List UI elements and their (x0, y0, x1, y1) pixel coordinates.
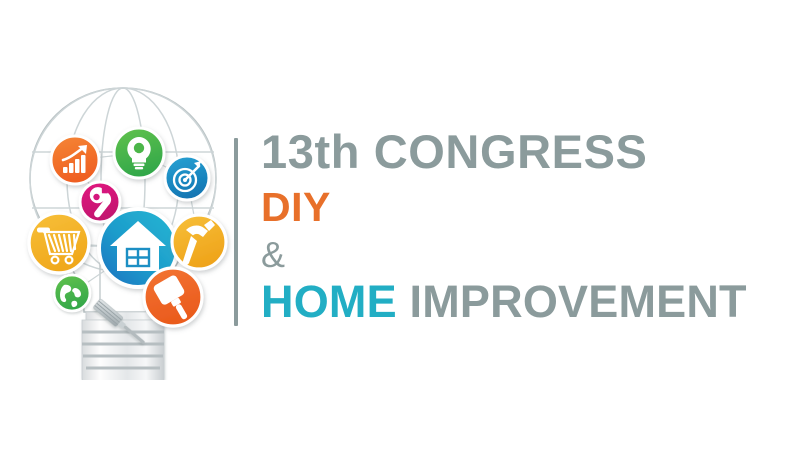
lightbulb-icon-cluster-logo (8, 50, 238, 380)
title-block: 13th CONGRESS DIY & HOME IMPROVEMENT (261, 128, 796, 324)
title-word-improvement: IMPROVEMENT (397, 276, 747, 327)
title-word-home: HOME (261, 276, 397, 327)
paint-brush-icon (144, 268, 202, 326)
shopping-cart-icon (29, 213, 89, 273)
logo-banner: 13th CONGRESS DIY & HOME IMPROVEMENT (0, 0, 800, 450)
title-line-diy: DIY (261, 187, 796, 228)
lightbulb-icon (114, 128, 164, 178)
title-line-ampersand: & (261, 237, 796, 273)
title-line-home-improvement: HOME IMPROVEMENT (261, 279, 796, 324)
vertical-divider (234, 138, 238, 326)
globe-icon (54, 275, 90, 311)
title-line-congress: 13th CONGRESS (261, 128, 796, 175)
hammer-icon (172, 215, 226, 269)
target-icon (165, 156, 209, 200)
growth-chart-icon (51, 136, 99, 184)
